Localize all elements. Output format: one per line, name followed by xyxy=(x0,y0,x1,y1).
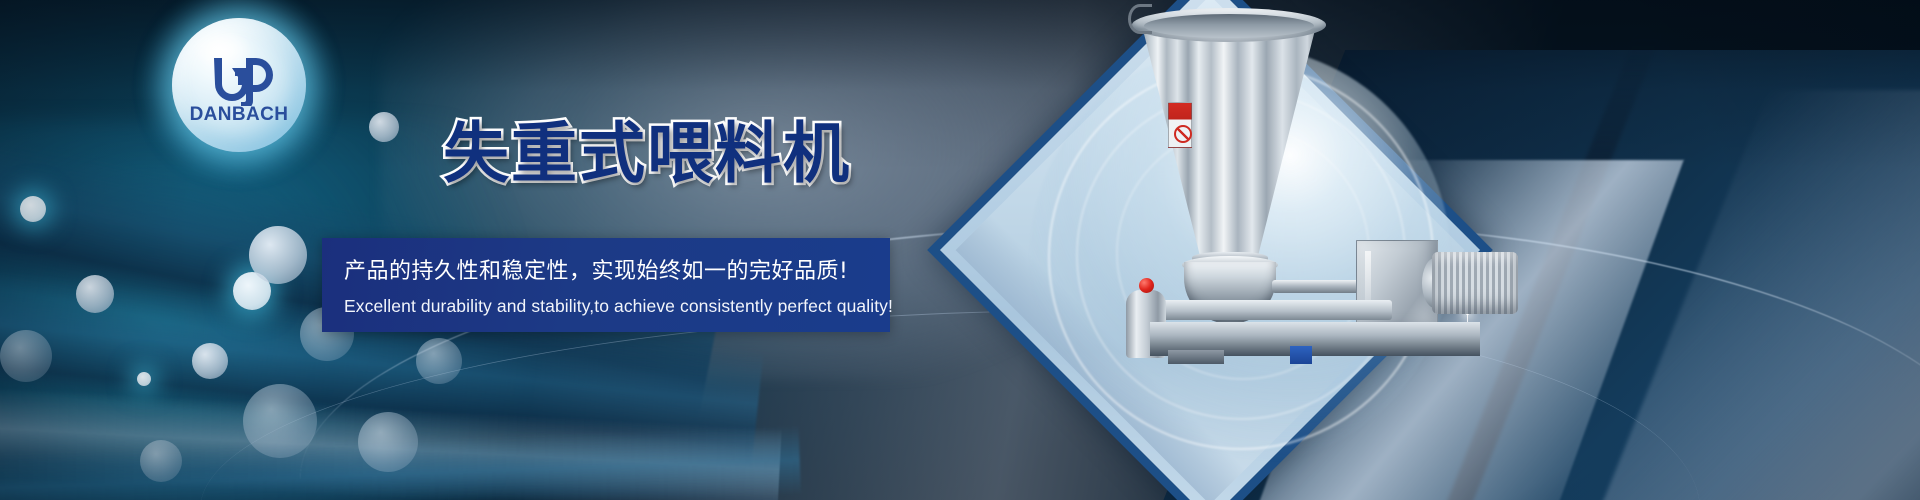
subtitle-chinese: 产品的持久性和稳定性，实现始终如一的完好品质! xyxy=(344,253,890,285)
no-hand-warning-label-icon xyxy=(1168,102,1192,148)
gear-motor-icon xyxy=(1432,252,1518,314)
brand-logo[interactable]: DANBACH xyxy=(172,18,306,152)
base-foot xyxy=(1168,350,1224,364)
brand-name: DANBACH xyxy=(172,104,306,126)
subtitle-box: 产品的持久性和稳定性，实现始终如一的完好品质! Excellent durabi… xyxy=(322,238,890,332)
hopper-rim-inner xyxy=(1144,14,1314,38)
product-banner: DANBACH 失重式喂料机 产品的持久性和稳定性，实现始终如一的完好品质! E… xyxy=(0,0,1920,500)
drive-shaft xyxy=(1272,280,1364,293)
blue-block-marker xyxy=(1290,346,1312,364)
red-knob-icon xyxy=(1139,278,1154,293)
product-showcase xyxy=(880,0,1700,500)
hopper-clamp xyxy=(1128,4,1152,34)
base-rail xyxy=(1162,300,1392,320)
page-title: 失重式喂料机 xyxy=(443,121,851,187)
loss-in-weight-feeder-image xyxy=(1040,0,1520,410)
danbach-monogram-icon xyxy=(202,54,276,106)
subtitle-english: Excellent durability and stability,to ac… xyxy=(344,296,890,317)
stainless-conical-hopper-icon xyxy=(1140,18,1318,258)
